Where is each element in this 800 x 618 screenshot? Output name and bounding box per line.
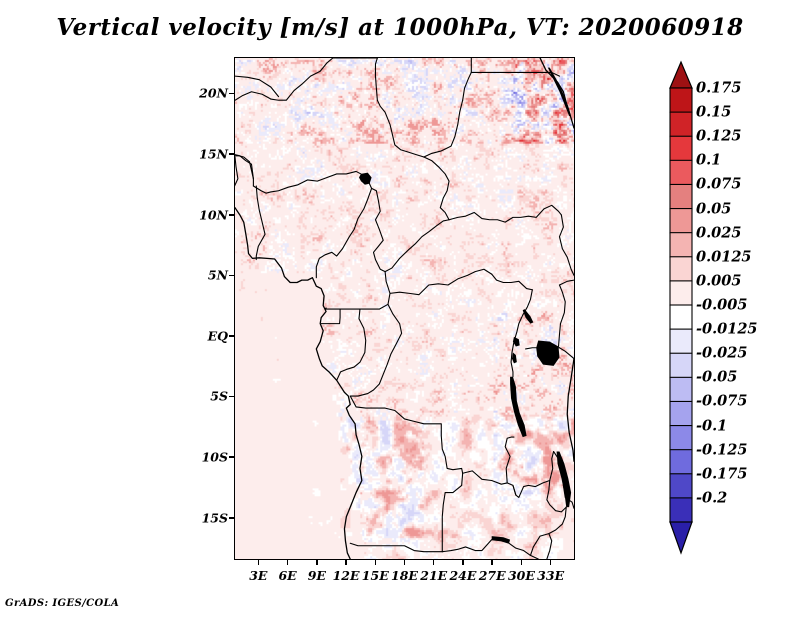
colorbar-swatch bbox=[670, 233, 692, 258]
map-boundary-line bbox=[530, 507, 566, 555]
water-body bbox=[512, 353, 517, 364]
colorbar-swatch bbox=[670, 209, 692, 234]
map-boundary-line bbox=[424, 100, 463, 157]
water-body bbox=[536, 340, 559, 365]
x-tick-label: 21E bbox=[420, 568, 447, 583]
colorbar-tick-label: -0.2 bbox=[696, 489, 727, 506]
y-tick-mark bbox=[229, 456, 234, 458]
map-boundary-line bbox=[253, 171, 361, 193]
colorbar-swatch bbox=[670, 450, 692, 475]
y-tick-label: 5N bbox=[190, 268, 228, 283]
colorbar-swatch bbox=[670, 329, 692, 354]
map-boundary-line bbox=[375, 58, 423, 157]
colorbar-swatch bbox=[670, 426, 692, 451]
map-boundary-line bbox=[505, 437, 514, 483]
x-tick-label: 18E bbox=[391, 568, 418, 583]
colorbar-swatch bbox=[670, 474, 692, 499]
colorbar-tick-label: -0.1 bbox=[696, 417, 727, 434]
map-boundary-line bbox=[442, 540, 530, 556]
x-tick-mark bbox=[550, 560, 552, 565]
x-tick-mark bbox=[345, 560, 347, 565]
x-tick-label: 12E bbox=[333, 568, 360, 583]
x-tick-label: 30E bbox=[508, 568, 535, 583]
colorbar-swatch bbox=[670, 257, 692, 282]
x-tick-label: 6E bbox=[278, 568, 296, 583]
colorbar-swatch bbox=[670, 498, 692, 523]
y-tick-label: 10N bbox=[190, 207, 228, 222]
x-tick-mark bbox=[316, 560, 318, 565]
colorbar-tick-label: 0.1 bbox=[696, 152, 721, 169]
colorbar-swatch bbox=[670, 353, 692, 378]
y-tick-mark bbox=[229, 396, 234, 398]
x-tick-label: 15E bbox=[362, 568, 389, 583]
y-tick-mark bbox=[229, 93, 234, 95]
map-boundary-line bbox=[337, 304, 388, 380]
map-boundary-line bbox=[511, 290, 532, 377]
map-boundary-line bbox=[385, 269, 492, 294]
map-boundary-line bbox=[554, 452, 574, 509]
map-panel bbox=[234, 57, 575, 560]
map-frame bbox=[234, 57, 575, 560]
map-boundary-line bbox=[559, 215, 574, 275]
map-boundary-line bbox=[463, 452, 554, 498]
x-tick-mark bbox=[462, 560, 464, 565]
colorbar-tick-label: 0.125 bbox=[696, 128, 741, 145]
country-borders-overlay bbox=[235, 58, 574, 559]
y-tick-label: EQ bbox=[190, 328, 228, 343]
colorbar-swatch bbox=[670, 136, 692, 161]
colorbar-swatch bbox=[670, 377, 692, 402]
colorbar-swatch bbox=[670, 184, 692, 209]
colorbar-tick-label: 0.05 bbox=[696, 200, 731, 217]
colorbar-tick-label: -0.025 bbox=[696, 345, 747, 362]
colorbar-tick-label: 0.025 bbox=[696, 224, 741, 241]
map-boundary-line bbox=[235, 76, 279, 97]
map-boundary-line bbox=[325, 308, 326, 309]
map-boundary-line bbox=[559, 280, 574, 285]
y-tick-mark bbox=[229, 214, 234, 216]
colorbar-tick-label: 0.15 bbox=[696, 104, 731, 121]
colorbar-extend-max bbox=[670, 62, 692, 88]
map-boundary-line bbox=[372, 188, 386, 271]
x-tick-label: 27E bbox=[479, 568, 506, 583]
page-title: Vertical velocity [m/s] at 1000hPa, VT: … bbox=[0, 14, 800, 41]
colorbar-tick-label: -0.075 bbox=[696, 393, 747, 410]
colorbar-swatch bbox=[670, 281, 692, 306]
map-boundary-line bbox=[567, 359, 574, 462]
map-boundary-line bbox=[492, 274, 533, 290]
map-boundary-line bbox=[316, 180, 371, 278]
map-boundary-line bbox=[547, 534, 552, 559]
map-boundary-line bbox=[256, 186, 265, 260]
y-tick-label: 10S bbox=[190, 449, 228, 464]
map-boundary-line bbox=[540, 58, 574, 128]
y-tick-mark bbox=[229, 153, 234, 155]
x-tick-label: 3E bbox=[249, 568, 267, 583]
map-boundary-line bbox=[558, 285, 565, 347]
colorbar-tick-label: -0.125 bbox=[696, 441, 747, 458]
y-tick-label: 15S bbox=[190, 510, 228, 525]
water-body bbox=[510, 377, 527, 437]
x-tick-mark bbox=[258, 560, 260, 565]
map-boundary-line bbox=[471, 72, 559, 76]
y-tick-mark bbox=[229, 335, 234, 337]
colorbar-tick-label: 0.005 bbox=[696, 272, 741, 289]
x-tick-mark bbox=[521, 560, 523, 565]
colorbar-swatch bbox=[670, 160, 692, 185]
colorbar-tick-label: 0.075 bbox=[696, 176, 741, 193]
x-tick-mark bbox=[375, 560, 377, 565]
x-tick-mark bbox=[287, 560, 289, 565]
map-boundary-line bbox=[559, 348, 574, 359]
colorbar-swatch bbox=[670, 305, 692, 330]
map-boundary-line bbox=[513, 485, 516, 495]
map-boundary-line bbox=[442, 473, 462, 551]
x-tick-label: 24E bbox=[449, 568, 476, 583]
y-tick-mark bbox=[229, 517, 234, 519]
map-boundary-line bbox=[530, 555, 538, 559]
x-tick-mark bbox=[433, 560, 435, 565]
x-tick-mark bbox=[491, 560, 493, 565]
map-boundary-line bbox=[350, 396, 462, 473]
map-boundary-line bbox=[350, 543, 442, 551]
colorbar-swatch bbox=[670, 88, 692, 113]
map-boundary-line bbox=[235, 157, 238, 187]
map-boundary-line bbox=[235, 208, 362, 559]
map-boundary-line bbox=[385, 220, 449, 272]
colorbar-tick-label: -0.175 bbox=[696, 465, 747, 482]
x-tick-label: 33E bbox=[537, 568, 564, 583]
colorbar-tick-label: 0.175 bbox=[696, 80, 741, 97]
map-boundary-line bbox=[424, 157, 449, 220]
colorbar-tick-label: -0.05 bbox=[696, 369, 737, 386]
map-boundary-line bbox=[463, 72, 472, 100]
water-body bbox=[548, 68, 571, 116]
map-boundary-line bbox=[321, 309, 340, 324]
colorbar-swatch bbox=[670, 112, 692, 137]
map-boundary-line bbox=[271, 58, 333, 100]
x-tick-label: 9E bbox=[308, 568, 326, 583]
map-boundary-line bbox=[235, 92, 271, 100]
colorbar-swatch bbox=[670, 401, 692, 426]
y-tick-label: 15N bbox=[190, 146, 228, 161]
y-tick-label: 5S bbox=[190, 389, 228, 404]
grads-attribution: GrADS: IGES/COLA bbox=[5, 598, 119, 609]
map-boundary-line bbox=[449, 205, 561, 222]
colorbar: 0.1750.150.1250.10.0750.050.0250.01250.0… bbox=[660, 57, 800, 562]
colorbar-extend-min bbox=[670, 522, 692, 553]
y-tick-label: 20N bbox=[190, 86, 228, 101]
colorbar-tick-label: -0.005 bbox=[696, 297, 747, 314]
grads-plot-page: Vertical velocity [m/s] at 1000hPa, VT: … bbox=[0, 0, 800, 618]
colorbar-tick-label: 0.0125 bbox=[696, 248, 752, 265]
map-boundary-line bbox=[235, 155, 253, 186]
x-tick-mark bbox=[404, 560, 406, 565]
y-tick-mark bbox=[229, 275, 234, 277]
colorbar-tick-label: -0.0125 bbox=[696, 321, 758, 338]
